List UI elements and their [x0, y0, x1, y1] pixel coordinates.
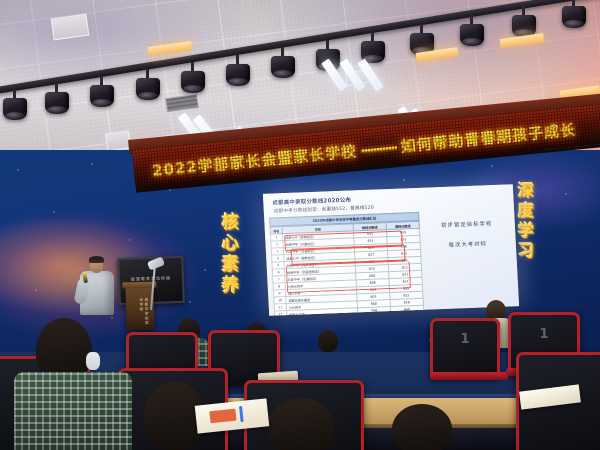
- audience-head-front: [268, 398, 334, 450]
- notebook-pen: [239, 406, 244, 422]
- table-body: 1成都七中（林荫校区）6316352树德中学（宁夏校区）6316333石室中学（…: [271, 229, 424, 316]
- seat-number: 1: [508, 327, 580, 342]
- slide-content: 成都高中录取分数线2020公布 成都中考分数线划定：省重线552，普高线520 …: [263, 184, 519, 315]
- stage-spotlight: [226, 62, 250, 85]
- stage-spotlight: [460, 22, 484, 45]
- stage-spotlight: [271, 54, 295, 77]
- audience-head-front: [392, 404, 452, 450]
- lecture-hall-photo: 核心素养 深度学习 2022学部家长会暨家长学校如何帮助青春期孩子成长 成都高中…: [0, 0, 600, 450]
- audience-head: [318, 330, 338, 352]
- seat-armrest: [430, 372, 508, 380]
- seat-trim: [430, 318, 500, 378]
- face-mask: [86, 352, 100, 370]
- stage-spotlight: [45, 90, 69, 113]
- wall-caption-left: 核心素养: [216, 213, 241, 297]
- slide-note-1: 初步锁定目标学校: [424, 218, 510, 229]
- podium-label: 成都市学校家长学校: [130, 298, 151, 331]
- stage-spotlight: [136, 76, 160, 99]
- projection-screen: 成都高中录取分数线2020公布 成都中考分数线划定：省重线552，普高线520 …: [263, 184, 519, 315]
- slide-table-area: 2020年成都中考名校中考最低分数线汇总 排名 学校 统招分数线 调招分数线 1…: [269, 212, 424, 316]
- stage-spotlight: [512, 13, 536, 36]
- slide-notes: 初步锁定目标学校 每次大考对标: [423, 208, 514, 312]
- stage-spotlight: [181, 69, 205, 92]
- led-banner-dash: [361, 146, 397, 152]
- speaker-hair: [89, 256, 104, 263]
- stage-spotlight: [3, 96, 27, 119]
- cell-rank: 12: [275, 311, 287, 316]
- auditorium-seat[interactable]: 1: [430, 318, 500, 378]
- stage-spotlight: [562, 4, 586, 27]
- seat-number: 1: [430, 332, 500, 347]
- slide-note-2: 每次大考对标: [425, 238, 511, 249]
- stage-spotlight: [90, 83, 114, 106]
- audience-torso-front: [14, 372, 132, 450]
- notebook-marker: [209, 409, 236, 424]
